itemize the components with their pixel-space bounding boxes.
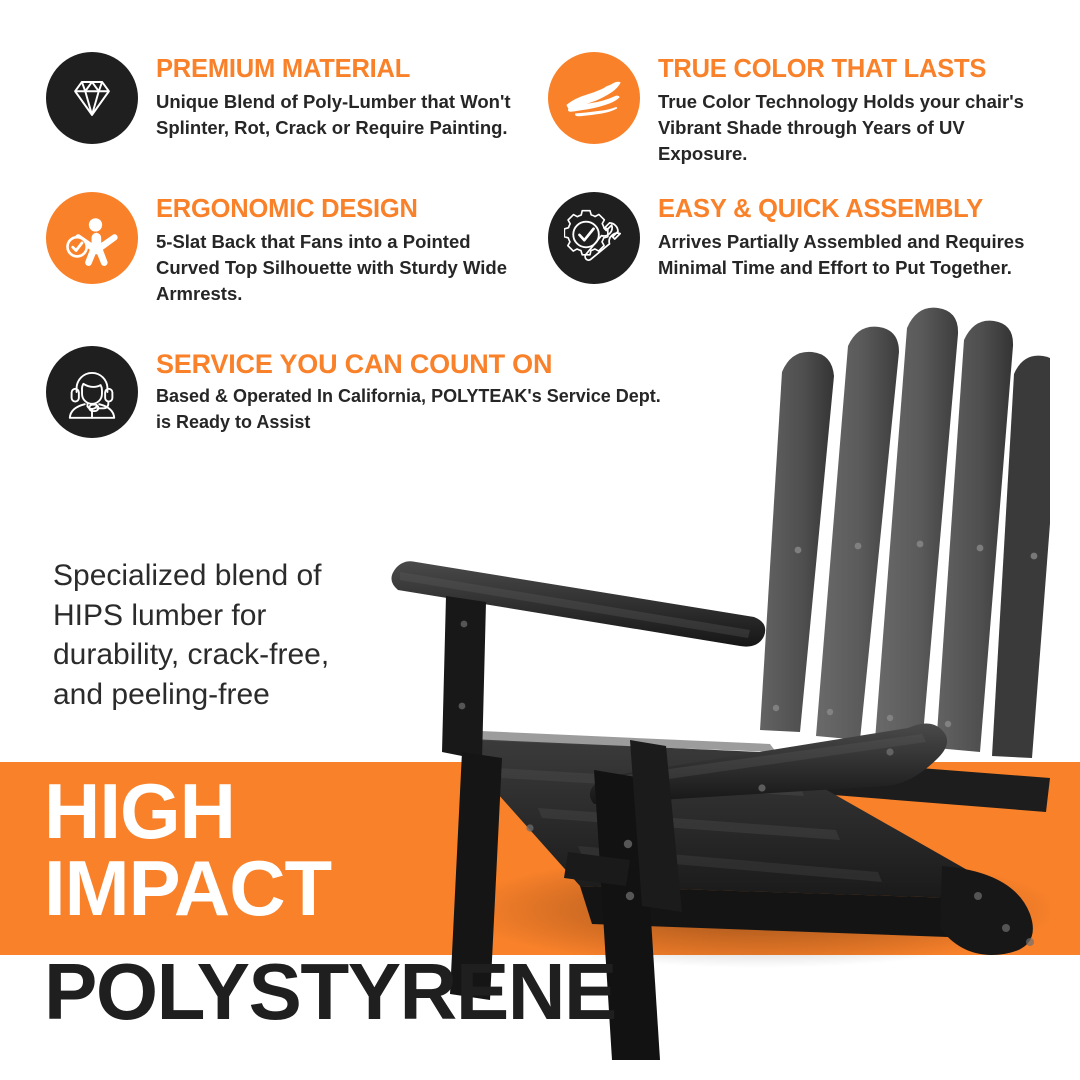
feature-item-premium-material: PREMIUM MATERIAL Unique Blend of Poly-Lu… <box>46 52 516 144</box>
feature-text-block: TRUE COLOR THAT LASTS True Color Technol… <box>658 52 1048 167</box>
infographic-page: PREMIUM MATERIAL Unique Blend of Poly-Lu… <box>0 0 1080 1080</box>
diamond-icon <box>46 52 138 144</box>
feature-text-block: PREMIUM MATERIAL Unique Blend of Poly-Lu… <box>156 52 516 141</box>
gear-wrench-check-icon <box>548 192 640 284</box>
feature-title: SERVICE YOU CAN COUNT ON <box>156 350 666 379</box>
feature-text-block: ERGONOMIC DESIGN 5-Slat Back that Fans i… <box>156 192 526 307</box>
banner-headline: HIGH IMPACT <box>44 773 664 927</box>
feature-item-service: SERVICE YOU CAN COUNT ON Based & Operate… <box>46 346 666 438</box>
feature-description: Based & Operated In California, POLYTEAK… <box>156 384 666 435</box>
feature-description: 5-Slat Back that Fans into a Pointed Cur… <box>156 229 526 308</box>
feature-text-block: SERVICE YOU CAN COUNT ON Based & Operate… <box>156 346 666 435</box>
feature-title: TRUE COLOR THAT LASTS <box>658 56 1048 84</box>
banner-headline-line2: IMPACT <box>44 850 664 927</box>
feature-text-block: EASY & QUICK ASSEMBLY Arrives Partially … <box>658 192 1048 281</box>
feature-description: Unique Blend of Poly-Lumber that Won't S… <box>156 89 516 142</box>
feature-item-easy-assembly: EASY & QUICK ASSEMBLY Arrives Partially … <box>548 192 1048 284</box>
accessibility-person-check-icon <box>46 192 138 284</box>
material-blurb-text: Specialized blend of HIPS lumber for dur… <box>53 556 383 714</box>
feature-description: True Color Technology Holds your chair's… <box>658 89 1048 168</box>
feature-item-ergonomic-design: ERGONOMIC DESIGN 5-Slat Back that Fans i… <box>46 192 526 307</box>
paint-brush-stroke-icon <box>548 52 640 144</box>
banner-subheadline: POLYSTYRENE <box>44 952 616 1032</box>
feature-item-true-color: TRUE COLOR THAT LASTS True Color Technol… <box>548 52 1048 167</box>
headset-support-agent-icon <box>46 346 138 438</box>
feature-title: EASY & QUICK ASSEMBLY <box>658 196 1048 224</box>
feature-title: PREMIUM MATERIAL <box>156 56 516 84</box>
chair-back-slats <box>760 308 1050 758</box>
banner-headline-line1: HIGH <box>44 767 235 855</box>
feature-description: Arrives Partially Assembled and Requires… <box>658 229 1048 282</box>
feature-title: ERGONOMIC DESIGN <box>156 196 526 224</box>
